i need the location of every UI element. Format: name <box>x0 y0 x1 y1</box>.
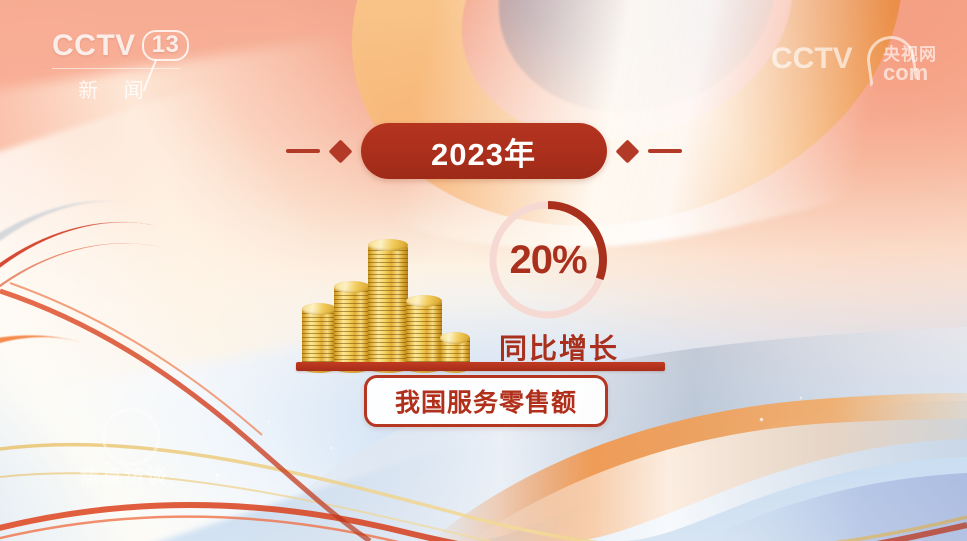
donut-percent-label: 20% <box>484 196 612 324</box>
cctv13-logo-row: CCTV 13 <box>52 30 212 61</box>
program-name: 焦点访谈 <box>80 460 168 489</box>
cctvcom-tld: com <box>883 60 928 86</box>
sparkle-dot <box>330 447 332 449</box>
cctv-com-watermark: CCTV 央视网 com <box>771 36 951 88</box>
growth-donut-chart: 20% <box>484 196 612 324</box>
sparkle-dot <box>800 397 802 399</box>
cctv-wordmark: CCTV <box>52 31 136 61</box>
title-banner: 2023年 <box>0 120 967 182</box>
coin-stack-bar <box>334 287 370 368</box>
coin-stack-bar <box>368 246 408 368</box>
diamond-left-icon <box>328 139 352 163</box>
diamond-right-icon <box>615 139 639 163</box>
program-circle-icon <box>102 408 160 466</box>
coin-stack-chart <box>296 236 486 368</box>
cctv13-channel-watermark: CCTV 13 新 闻 <box>52 30 212 100</box>
sparkle-dot <box>760 418 763 421</box>
chart-baseline-bar <box>296 362 665 371</box>
yoy-growth-label: 同比增长 <box>484 330 634 364</box>
year-pill: 2023年 <box>361 123 607 179</box>
subject-tag-box: 我国服务零售额 <box>364 375 608 427</box>
dash-left-decoration <box>286 149 320 153</box>
year-label: 2023年 <box>431 129 536 174</box>
dash-right-decoration <box>648 149 682 153</box>
program-watermark: 焦点访谈 <box>80 416 230 486</box>
coin-stack-bar <box>406 301 442 368</box>
channel-category-label: 新 闻 <box>52 68 180 103</box>
broadcast-infographic: CCTV 13 新 闻 CCTV 央视网 com 焦点访谈 2023年 <box>0 0 967 541</box>
coin-stack-bar <box>302 309 336 368</box>
subject-label: 我国服务零售额 <box>395 383 577 419</box>
cctvcom-wordmark: CCTV <box>771 44 853 74</box>
channel-number: 13 <box>142 30 190 61</box>
sparkle-dot <box>268 421 270 423</box>
